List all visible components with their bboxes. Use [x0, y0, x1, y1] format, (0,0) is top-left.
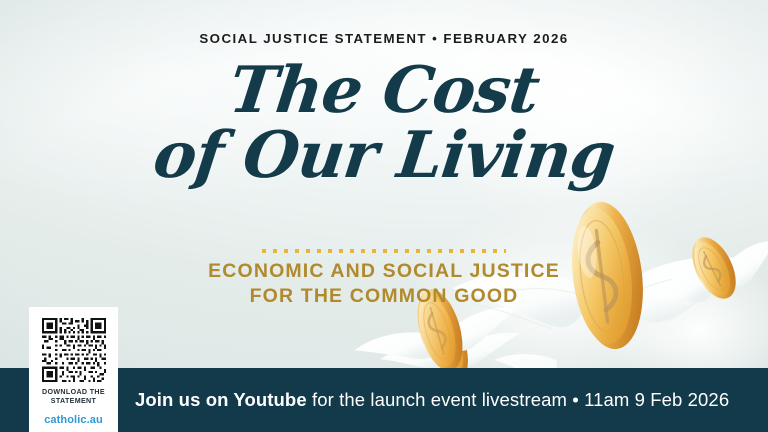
- qr-caption: DOWNLOAD THE STATEMENT: [42, 388, 105, 407]
- launch-event-details: for the launch event livestream • 11am 9…: [307, 389, 729, 410]
- subtitle: ECONOMIC AND SOCIAL JUSTICE FOR THE COMM…: [0, 259, 768, 308]
- page-title: The Cost of Our Living: [0, 62, 768, 186]
- title-line-one: The Cost: [0, 62, 768, 121]
- download-statement-card[interactable]: DOWNLOAD THE STATEMENT catholic.au: [29, 307, 118, 432]
- qr-caption-line-two: STATEMENT: [42, 397, 105, 406]
- catholic-au-link[interactable]: catholic.au: [44, 414, 103, 426]
- qr-code[interactable]: [42, 318, 106, 382]
- launch-event-lead: Join us on Youtube: [135, 389, 307, 410]
- title-line-two: of Our Living: [0, 127, 768, 186]
- subtitle-line-one: ECONOMIC AND SOCIAL JUSTICE: [0, 259, 768, 284]
- launch-event-text: Join us on Youtube for the launch event …: [135, 389, 729, 411]
- qr-caption-line-one: DOWNLOAD THE: [42, 388, 105, 397]
- dotted-divider: [262, 249, 506, 253]
- social-justice-statement-poster: SOCIAL JUSTICE STATEMENT • FEBRUARY 2026…: [0, 0, 768, 432]
- subtitle-line-two: FOR THE COMMON GOOD: [0, 284, 768, 309]
